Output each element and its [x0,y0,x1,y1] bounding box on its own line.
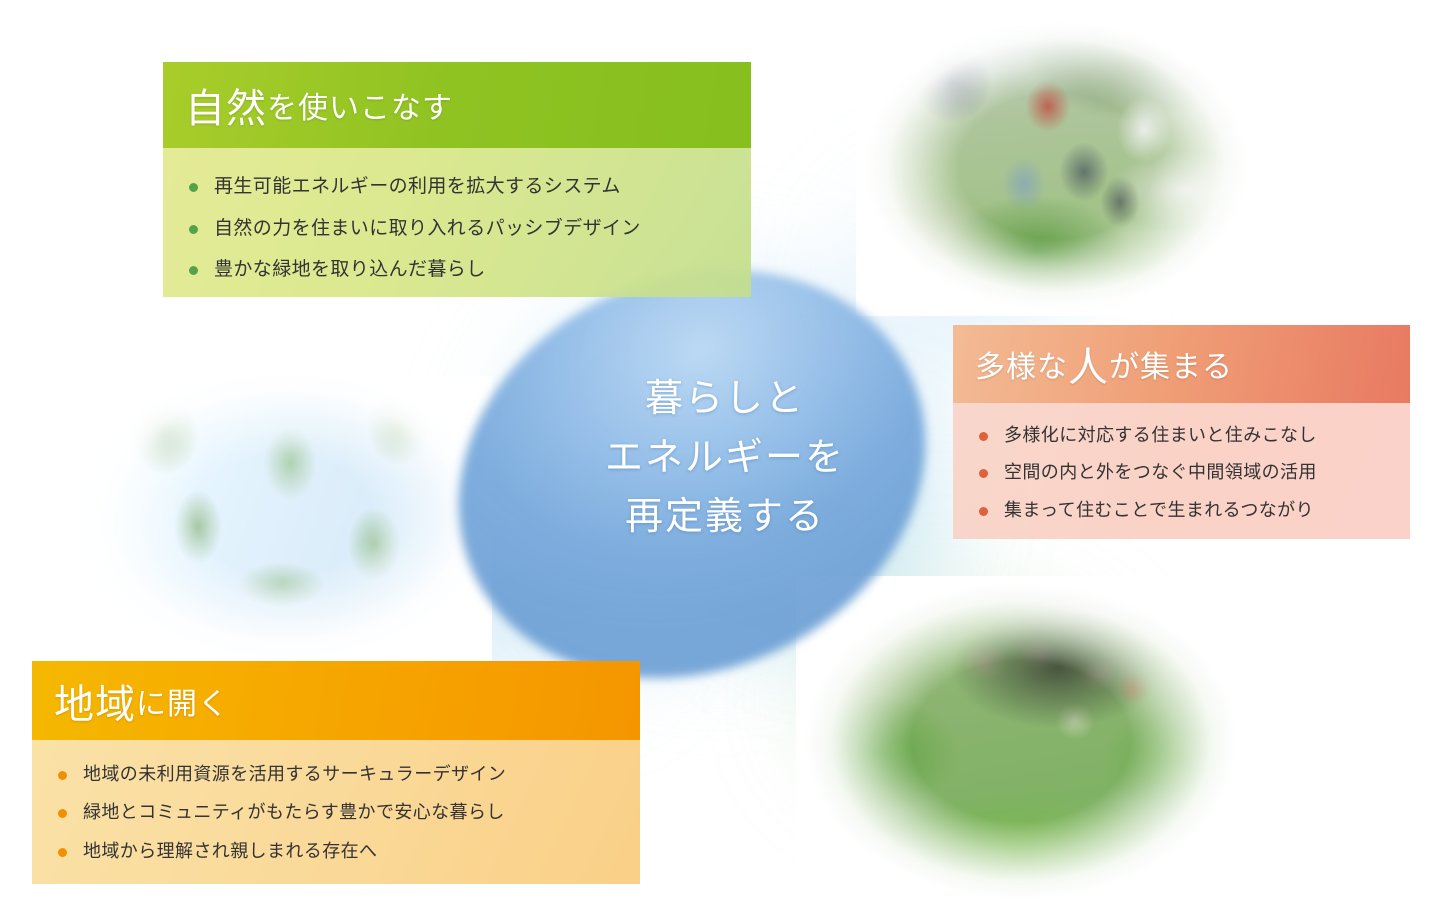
panel-nature: 自然 を使いこなす 再生可能エネルギーの利用を拡大するシステム 自然の力を住まい… [163,62,751,297]
list-item: 再生可能エネルギーの利用を拡大するシステム [189,174,731,200]
panel-community-title-lead: 地域 [54,672,136,730]
panel-people-bullet-3: 集まって住むことで生まれるつながり [1004,498,1314,522]
panel-people-body: 多様化に対応する住まいと住みこなし 空間の内と外をつなぐ中間領域の活用 集まって… [953,403,1410,539]
list-item: 緑地とコミュニティがもたらす豊かで安心な暮らし [58,800,620,824]
community-garden-photo [856,16,1256,316]
panel-people-title-rest: が集まる [1109,342,1233,386]
panel-community: 地域 に開く 地域の未利用資源を活用するサーキュラーデザイン 緑地とコミュニティ… [32,661,640,884]
panel-nature-bullet-2: 自然の力を住まいに取り入れるパッシブデザイン [214,216,641,242]
central-concept-line-2: エネルギーを [560,429,890,488]
bullet-icon [58,848,67,857]
central-concept-line-3: 再定義する [560,488,890,547]
list-item: 地域の未利用資源を活用するサーキュラーデザイン [58,762,620,786]
list-item: 豊かな緑地を取り込んだ暮らし [189,257,731,283]
bullet-icon [189,266,198,275]
photo-vignette [72,376,492,666]
bullet-icon [58,771,67,780]
panel-nature-title-lead: 自然 [185,76,267,134]
panel-nature-bullet-3: 豊かな緑地を取り込んだ暮らし [214,257,486,283]
bullet-icon [979,507,988,516]
panel-people-title-pre: 多様な [975,342,1068,386]
bullet-icon [979,469,988,478]
panel-people-bullet-1: 多様化に対応する住まいと住みこなし [1004,423,1317,447]
bullet-icon [189,183,198,192]
list-item: 空間の内と外をつなぐ中間領域の活用 [979,460,1390,484]
panel-community-body: 地域の未利用資源を活用するサーキュラーデザイン 緑地とコミュニティがもたらす豊か… [32,740,640,884]
residents-group-photo [796,576,1246,906]
panel-community-title-rest: に開く [136,679,229,723]
photo-vignette [796,576,1246,906]
panel-people-bullet-2: 空間の内と外をつなぐ中間領域の活用 [1004,460,1317,484]
photo-vignette [856,16,1256,316]
list-item: 自然の力を住まいに取り入れるパッシブデザイン [189,216,731,242]
panel-people-header: 多様な 人 が集まる [953,325,1410,403]
central-concept-text: 暮らしと エネルギーを 再定義する [560,370,890,547]
panel-community-bullet-3: 地域から理解され親しまれる存在へ [83,839,377,863]
green-building-photo [72,376,492,666]
panel-nature-header: 自然 を使いこなす [163,62,751,148]
list-item: 多様化に対応する住まいと住みこなし [979,423,1390,447]
panel-community-bullet-1: 地域の未利用資源を活用するサーキュラーデザイン [83,762,506,786]
panel-nature-body: 再生可能エネルギーの利用を拡大するシステム 自然の力を住まいに取り入れるパッシブ… [163,148,751,297]
bullet-icon [979,432,988,441]
central-concept-line-1: 暮らしと [560,370,890,429]
bullet-icon [58,809,67,818]
list-item: 地域から理解され親しまれる存在へ [58,839,620,863]
panel-people-title-lead: 人 [1068,335,1109,393]
panel-nature-title-rest: を使いこなす [267,83,453,127]
panel-community-header: 地域 に開く [32,661,640,740]
bullet-icon [189,225,198,234]
panel-community-bullet-2: 緑地とコミュニティがもたらす豊かで安心な暮らし [83,800,505,824]
panel-people: 多様な 人 が集まる 多様化に対応する住まいと住みこなし 空間の内と外をつなぐ中… [953,325,1410,539]
list-item: 集まって住むことで生まれるつながり [979,498,1390,522]
panel-nature-bullet-1: 再生可能エネルギーの利用を拡大するシステム [214,174,621,200]
